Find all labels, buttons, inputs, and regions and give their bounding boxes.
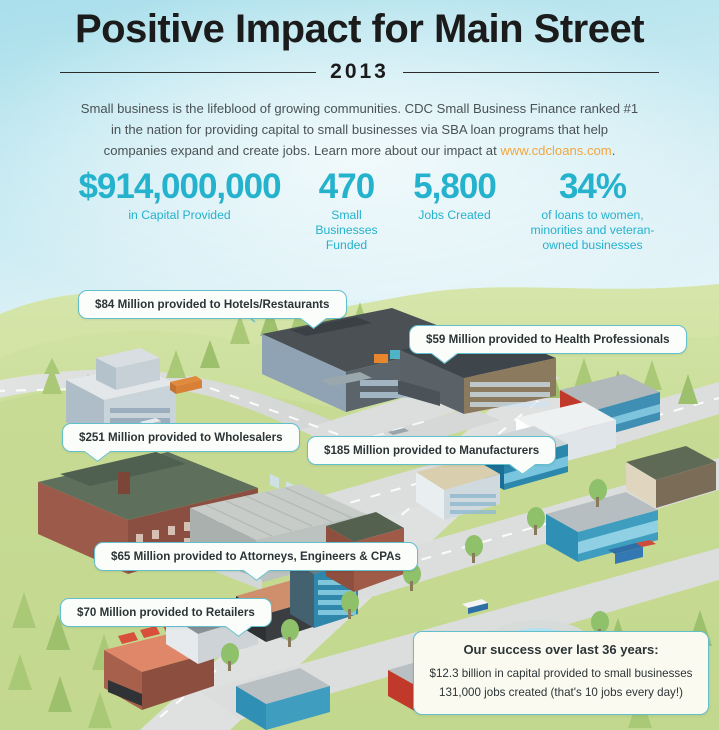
stat-capital-provided: $914,000,000 in Capital Provided [61, 168, 299, 223]
callout-hotels-text: $84 Million provided to Hotels/Restauran… [95, 298, 330, 311]
callout-retailers[interactable]: $70 Million provided to Retailers [60, 598, 272, 627]
stat-jobs-created: 5,800 Jobs Created [397, 168, 513, 223]
stat-diverse-loans: 34% of loans to women,minorities and vet… [527, 168, 659, 253]
stat-capital-label: in Capital Provided [61, 208, 299, 223]
stat-businesses-value: 470 [307, 168, 387, 206]
header: Positive Impact for Main Street 2013 Sma… [0, 0, 719, 161]
stat-jobs-label: Jobs Created [397, 208, 513, 223]
infographic-canvas: Positive Impact for Main Street 2013 Sma… [0, 0, 719, 730]
success-summary-box: Our success over last 36 years: $12.3 bi… [413, 631, 709, 715]
success-title: Our success over last 36 years: [424, 642, 698, 657]
stat-businesses-label: SmallBusinessesFunded [307, 208, 387, 253]
year-divider: 2013 [60, 60, 659, 84]
callout-health-text: $59 Million provided to Health Professio… [426, 333, 670, 346]
intro-paragraph: Small business is the lifeblood of growi… [80, 98, 640, 161]
callout-hotels-restaurants[interactable]: $84 Million provided to Hotels/Restauran… [78, 290, 347, 319]
stat-percent-value: 34% [527, 168, 659, 206]
callout-professionals[interactable]: $65 Million provided to Attorneys, Engin… [94, 542, 418, 571]
success-jobs-line: 131,000 jobs created (that's 10 jobs eve… [424, 683, 698, 702]
callout-manufacturers[interactable]: $185 Million provided to Manufacturers [307, 436, 556, 465]
stat-percent-label: of loans to women,minorities and veteran… [527, 208, 659, 253]
stat-jobs-value: 5,800 [397, 168, 513, 206]
cdcloans-link[interactable]: www.cdcloans.com [500, 143, 611, 158]
page-title: Positive Impact for Main Street [0, 6, 719, 52]
success-capital-line: $12.3 billion in capital provided to sma… [424, 664, 698, 683]
callout-retailers-text: $70 Million provided to Retailers [77, 606, 255, 619]
callout-manufacturers-text: $185 Million provided to Manufacturers [324, 444, 539, 457]
rule-left [60, 72, 316, 73]
stat-capital-value: $914,000,000 [61, 168, 299, 206]
key-statistics: $914,000,000 in Capital Provided 470 Sma… [0, 168, 719, 253]
callout-wholesalers[interactable]: $251 Million provided to Wholesalers [62, 423, 300, 452]
intro-text-2: . [612, 143, 616, 158]
rule-right [403, 72, 659, 73]
callout-wholesalers-text: $251 Million provided to Wholesalers [79, 431, 283, 444]
stat-businesses-funded: 470 SmallBusinessesFunded [307, 168, 387, 253]
year-label: 2013 [330, 60, 389, 84]
callout-health-professionals[interactable]: $59 Million provided to Health Professio… [409, 325, 687, 354]
